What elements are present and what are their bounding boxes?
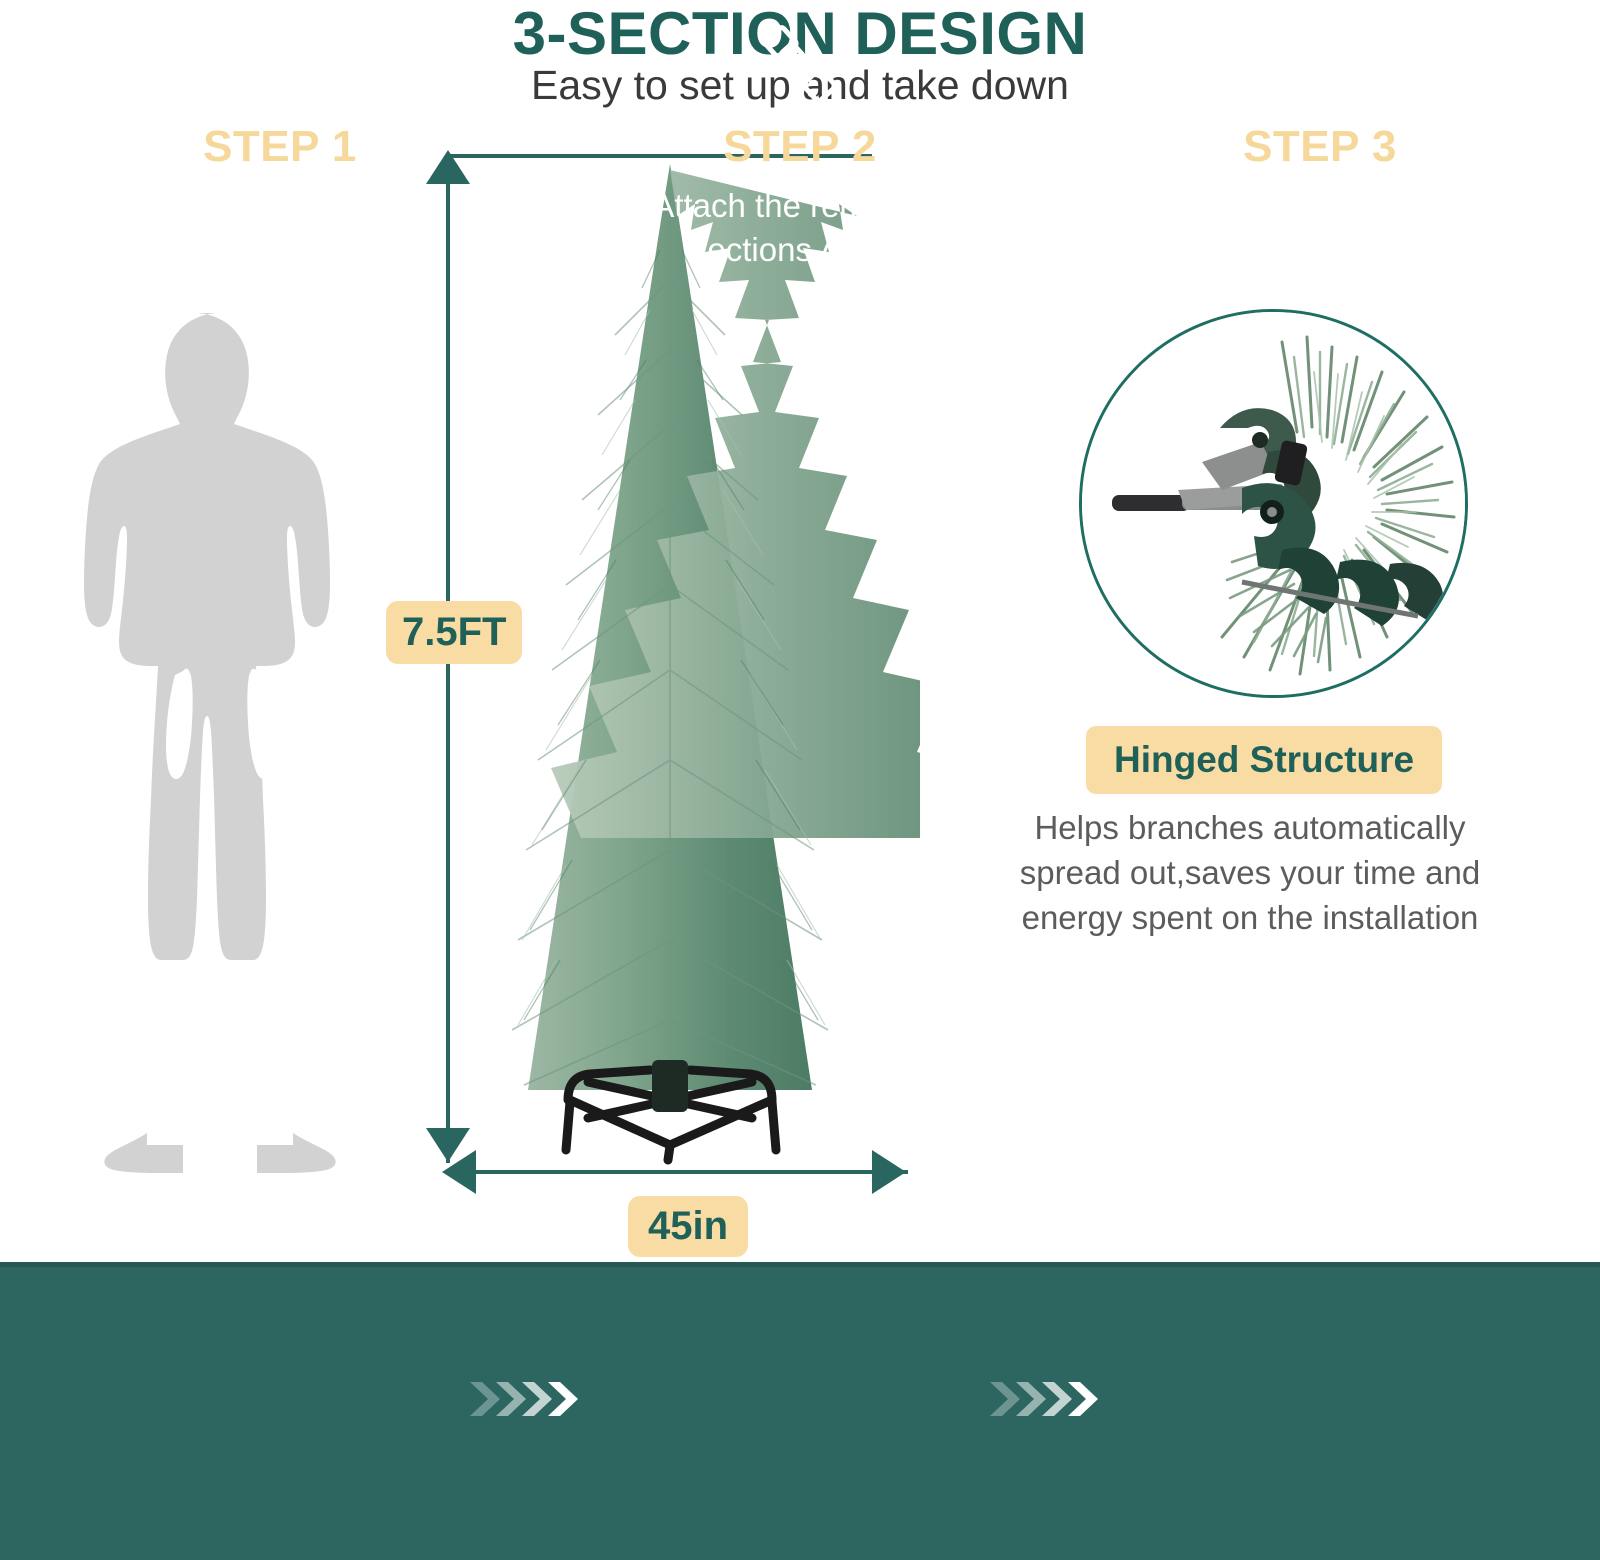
chevron-sequence-icon bbox=[468, 1376, 588, 1422]
step-3: STEP 3 Fluff the tree formaximum coverag… bbox=[1105, 18, 1535, 271]
hinge-connector-icon bbox=[65, 18, 495, 114]
step-2-title: STEP 2 bbox=[585, 122, 1015, 172]
fluff-tree-hand-icon bbox=[1105, 18, 1535, 114]
step-3-title: STEP 3 bbox=[1105, 122, 1535, 172]
width-measure-line bbox=[448, 1170, 908, 1174]
step-2: STEP 2 Attach the remaning sections A-B-… bbox=[585, 18, 1015, 271]
step-2-text: Attach the remaning sections A-B-C bbox=[585, 184, 1015, 271]
step-2-line-1: Attach the remaning bbox=[585, 184, 1015, 228]
hinged-structure-description: Helps branches automatically spread out,… bbox=[980, 805, 1520, 941]
step-1-line-2: Part A bbox=[65, 228, 495, 272]
width-badge: 45in bbox=[628, 1196, 748, 1257]
hinge-detail-photo bbox=[1079, 309, 1468, 698]
step-1: STEP 1 Connect the baseto Part A bbox=[65, 18, 495, 271]
step-3-text: Fluff the tree formaximum coverage bbox=[1105, 184, 1535, 271]
hinge-desc-line-2: spread out,saves your time and bbox=[980, 850, 1520, 895]
hinge-connector-icon bbox=[585, 18, 1015, 114]
step-1-text: Connect the baseto Part A bbox=[65, 184, 495, 271]
steps-band bbox=[0, 1262, 1600, 1560]
christmas-tree-image bbox=[420, 160, 920, 1170]
step-1-title: STEP 1 bbox=[65, 122, 495, 172]
person-silhouette-icon bbox=[55, 305, 385, 1185]
height-badge: 7.5FT bbox=[386, 601, 522, 664]
infographic-page: 3-SECTION DESIGN Easy to set up and take… bbox=[0, 0, 1600, 1560]
hinge-desc-line-1: Helps branches automatically bbox=[980, 805, 1520, 850]
step-1-line-1: Connect the baseto bbox=[65, 184, 495, 228]
step-3-line-1: Fluff the tree formaximum bbox=[1105, 184, 1535, 228]
step-2-line-2: sections A-B-C bbox=[585, 228, 1015, 272]
hinge-desc-line-3: energy spent on the installation bbox=[980, 895, 1520, 940]
chevron-sequence-icon bbox=[988, 1376, 1108, 1422]
hinged-structure-badge: Hinged Structure bbox=[1086, 726, 1442, 794]
step-3-line-2: coverage bbox=[1105, 228, 1535, 272]
